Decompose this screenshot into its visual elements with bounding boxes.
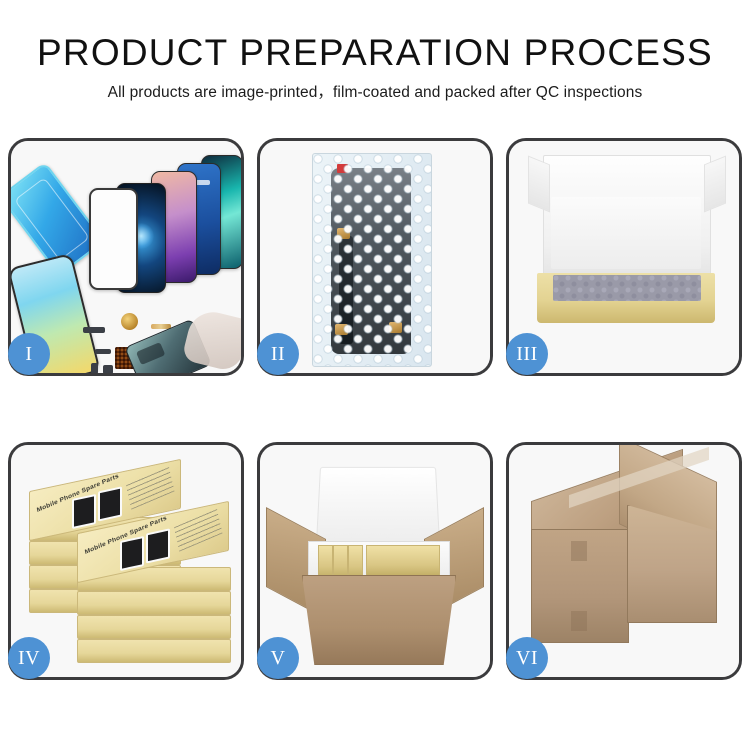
phone-front-glass [89, 188, 138, 290]
box-product-image [98, 486, 122, 521]
step-badge-2: II [257, 333, 299, 375]
step-3-image [509, 141, 739, 373]
box-spec-lines [126, 465, 175, 509]
gold-box-in-carton [366, 545, 440, 579]
stacked-box-edge [77, 639, 231, 663]
small-part-strip [95, 349, 111, 354]
step-panel-5: V [257, 442, 493, 680]
box-product-image [146, 528, 170, 563]
step-badge-1: I [8, 333, 50, 375]
small-part-strip [83, 327, 105, 333]
step-badge-6: VI [506, 637, 548, 679]
step-badge-5: V [257, 637, 299, 679]
white-foam-sheet [551, 197, 701, 269]
carton-body [302, 575, 456, 665]
step-panel-1: I [8, 138, 244, 376]
page-subtitle: All products are image-printed，film-coat… [0, 74, 750, 103]
carton-seam [571, 611, 587, 631]
bubble-texture [313, 154, 431, 366]
step-2-image [260, 141, 490, 373]
step-badge-3: III [506, 333, 548, 375]
step-panel-3: III [506, 138, 742, 376]
small-part-chip [103, 365, 113, 373]
step-panel-6: VI [506, 442, 742, 680]
step-panel-4: Mobile Phone Spare Parts Mobile Phone Sp… [8, 442, 244, 680]
step-4-image: Mobile Phone Spare Parts Mobile Phone Sp… [11, 445, 241, 677]
small-part-chip [91, 363, 98, 373]
step-1-image [11, 141, 241, 373]
box-product-image [120, 536, 144, 571]
stacked-box-edge [77, 591, 231, 615]
speaker-part [121, 313, 138, 330]
header: PRODUCT PREPARATION PROCESS All products… [0, 0, 750, 103]
carton-seam [571, 541, 587, 561]
box-spec-lines [174, 507, 223, 551]
step-6-image [509, 445, 739, 677]
foam-lid [316, 467, 440, 546]
step-panel-2: II [257, 138, 493, 376]
page-title: PRODUCT PREPARATION PROCESS [0, 0, 750, 74]
gray-foam-padding [553, 275, 701, 301]
stacked-boxes: Mobile Phone Spare Parts Mobile Phone Sp… [25, 471, 231, 663]
process-steps-grid: I II [8, 138, 742, 680]
box-product-image [72, 494, 96, 529]
components-and-screens-illustration [11, 141, 241, 373]
stacked-box-edge [77, 615, 231, 639]
product-preparation-infographic: PRODUCT PREPARATION PROCESS All products… [0, 0, 750, 750]
step-badge-4: IV [8, 637, 50, 679]
bubble-wrap-bag [312, 153, 432, 367]
step-5-image [260, 445, 490, 677]
